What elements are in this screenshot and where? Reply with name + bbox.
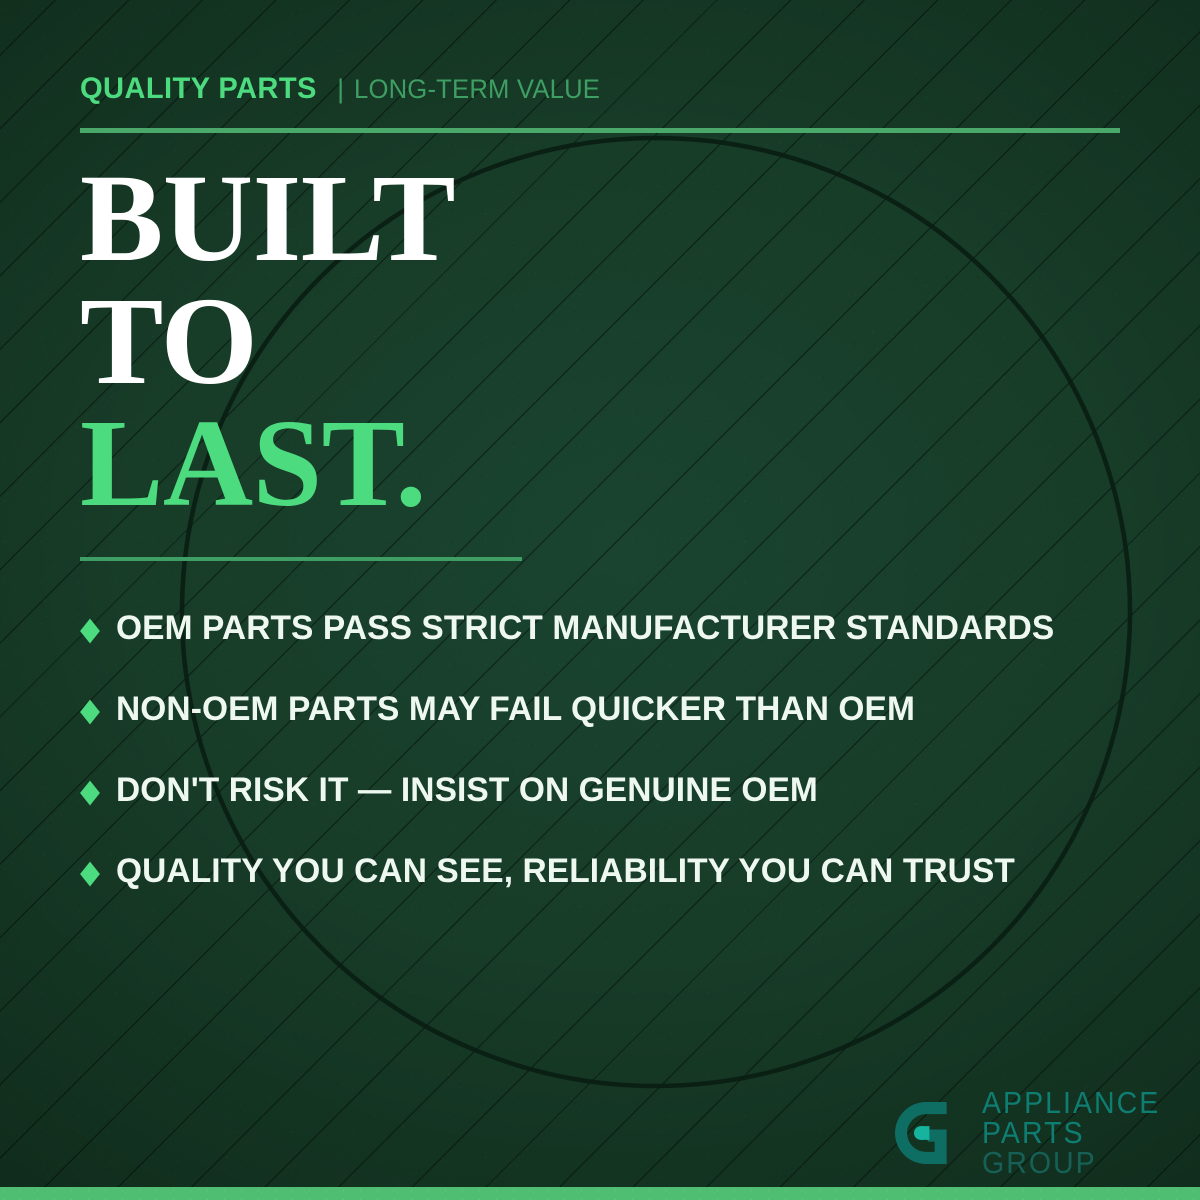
headline-line-2: TO	[80, 281, 455, 404]
list-item-label: NON-OEM PARTS MAY FAIL QUICKER THAN OEM	[116, 690, 915, 729]
brand-word-group: GROUP	[982, 1148, 1160, 1178]
bottom-bar-texture	[0, 1187, 1200, 1200]
divider-headline	[80, 557, 522, 561]
headline-line-3: LAST.	[80, 403, 455, 526]
eyebrow-separator: |	[337, 74, 344, 105]
brand-logo: APPLIANCE PARTS GROUP	[883, 1088, 1176, 1178]
list-item: ◆ OEM PARTS PASS STRICT MANUFACTURER STA…	[80, 588, 1150, 669]
eyebrow-main-label: QUALITY PARTS	[80, 72, 317, 106]
list-item: ◆ QUALITY YOU CAN SEE, RELIABILITY YOU C…	[80, 831, 1150, 912]
poster-content: QUALITY PARTS | LONG-TERM VALUE BUILT TO…	[0, 0, 1200, 1200]
diamond-bullet-icon: ◆	[80, 854, 100, 887]
diamond-bullet-icon: ◆	[80, 692, 100, 725]
list-item-label: OEM PARTS PASS STRICT MANUFACTURER STAND…	[116, 609, 1054, 648]
brand-word-appliance: APPLIANCE	[982, 1088, 1160, 1118]
poster-canvas: QUALITY PARTS | LONG-TERM VALUE BUILT TO…	[0, 0, 1200, 1200]
brand-word-parts: PARTS	[982, 1118, 1160, 1148]
list-item-label: DON'T RISK IT — INSIST ON GENUINE OEM	[116, 771, 818, 810]
list-item: ◆ NON-OEM PARTS MAY FAIL QUICKER THAN OE…	[80, 669, 1150, 750]
headline-line-1: BUILT	[80, 158, 455, 281]
g-monogram-icon	[883, 1090, 969, 1176]
list-item: ◆ DON'T RISK IT — INSIST ON GENUINE OEM	[80, 750, 1150, 831]
divider-top	[80, 128, 1120, 133]
bottom-accent-bar	[0, 1187, 1200, 1200]
diamond-bullet-icon: ◆	[80, 773, 100, 806]
benefit-list: ◆ OEM PARTS PASS STRICT MANUFACTURER STA…	[80, 588, 1150, 912]
diamond-bullet-icon: ◆	[80, 611, 100, 644]
page-title: BUILT TO LAST.	[80, 158, 455, 526]
eyebrow-sub-label: LONG-TERM VALUE	[354, 74, 600, 105]
eyebrow: QUALITY PARTS | LONG-TERM VALUE	[80, 72, 613, 106]
brand-wordmark: APPLIANCE PARTS GROUP	[982, 1088, 1176, 1178]
list-item-label: QUALITY YOU CAN SEE, RELIABILITY YOU CAN…	[116, 852, 1015, 891]
